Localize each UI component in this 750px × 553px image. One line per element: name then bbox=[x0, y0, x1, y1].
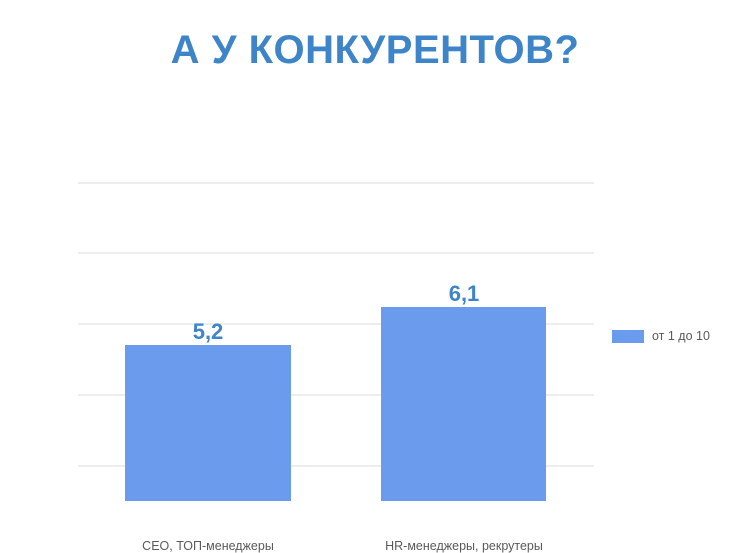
x-axis-tick-ceo: CEO, ТОП-менеджеры bbox=[142, 539, 274, 553]
bar-value-hr: 6,1 bbox=[449, 281, 480, 307]
gridline-10 bbox=[78, 182, 594, 184]
bar-hr[interactable] bbox=[381, 307, 546, 501]
gridline-8 bbox=[78, 252, 594, 254]
page-title: А У КОНКУРЕНТОВ? bbox=[0, 28, 750, 73]
bar-chart: 10 8 6 4 2 5,2 6,1 CEO, ТОП-менеджеры HR… bbox=[0, 150, 750, 540]
plot-area: 10 8 6 4 2 5,2 6,1 CEO, ТОП-менеджеры HR… bbox=[78, 182, 594, 532]
bar-value-ceo: 5,2 bbox=[193, 319, 224, 345]
legend-item-label: от 1 до 10 bbox=[652, 329, 710, 343]
x-axis-tick-hr: HR-менеджеры, рекрутеры bbox=[385, 539, 543, 553]
slide-canvas: А У КОНКУРЕНТОВ? 10 8 6 4 2 5,2 6,1 CEO,… bbox=[0, 0, 750, 540]
bar-ceo[interactable] bbox=[125, 345, 291, 501]
chart-legend: от 1 до 10 bbox=[612, 329, 710, 343]
legend-swatch-icon bbox=[612, 330, 644, 343]
